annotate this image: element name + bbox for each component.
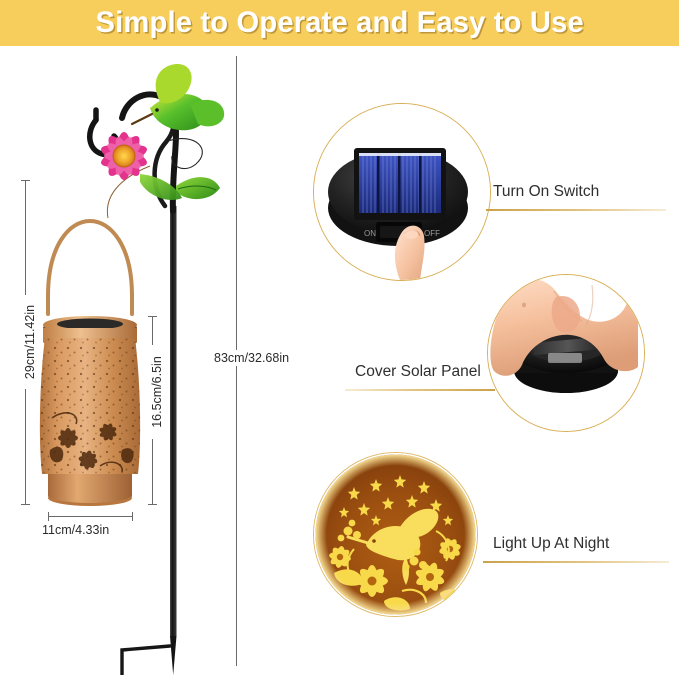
night-glow-scene — [314, 453, 477, 616]
header-banner: Simple to Operate and Easy to Use — [0, 0, 679, 46]
callout-rule-cover-solar-panel — [345, 389, 495, 391]
solar-panel-switch-scene: ON OFF — [314, 104, 490, 280]
callout-label-cover-solar-panel: Cover Solar Panel — [355, 363, 481, 381]
switch-off-label: OFF — [424, 229, 440, 238]
dimension-cap-right — [132, 512, 133, 521]
switch-on-label: ON — [364, 229, 376, 238]
page-title: Simple to Operate and Easy to Use — [95, 6, 583, 40]
lantern — [40, 221, 140, 506]
callout-label-turn-on-switch: Turn On Switch — [493, 183, 599, 201]
dimension-label-lantern-height: 29cm/11.42in — [22, 295, 38, 389]
callout-cover-solar-panel — [487, 274, 645, 432]
dimension-cap-bottom — [21, 504, 30, 505]
callout-light-up-at-night — [313, 452, 478, 617]
callout-turn-on-switch: ON OFF — [313, 103, 491, 281]
dimension-label-body-height: 16.5cm/6.5in — [149, 345, 165, 439]
callout-rule-turn-on-switch — [486, 209, 666, 211]
callout-label-light-up-at-night: Light Up At Night — [493, 535, 609, 553]
dimension-cap-bottom-2 — [148, 504, 157, 505]
dimension-cap-top — [21, 180, 30, 181]
dimension-cap-left — [48, 512, 49, 521]
dimension-label-stake-height: 83cm/32.68in — [212, 350, 291, 366]
infographic-page: Simple to Operate and Easy to Use — [0, 0, 679, 675]
callout-rule-light-up-at-night — [483, 561, 669, 563]
cover-solar-panel-scene — [488, 275, 644, 431]
dimension-label-width: 11cm/4.33in — [40, 522, 111, 538]
product-dimension-panel: 29cm/11.42in 16.5cm/6.5in 11cm/4.33in 83… — [0, 46, 300, 675]
dimension-cap-top-2 — [148, 316, 157, 317]
dimension-line-width — [48, 516, 132, 517]
pink-flower-ornament — [99, 132, 182, 200]
